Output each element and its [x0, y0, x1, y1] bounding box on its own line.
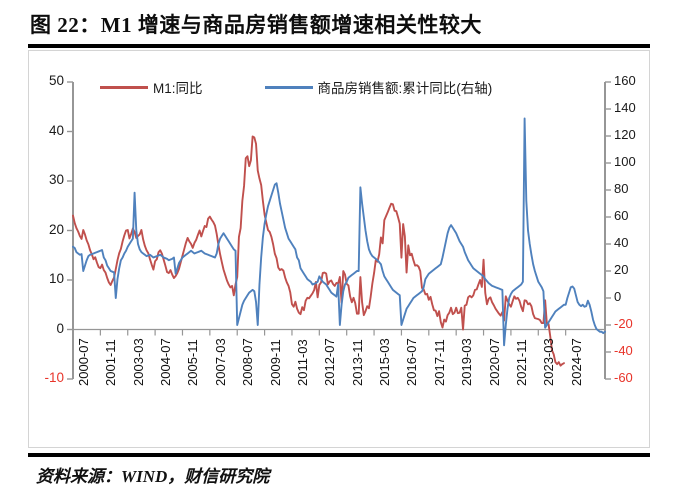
left-axis-tick-label: 50 — [28, 74, 64, 88]
x-axis-tick-label: 2007-03 — [214, 338, 227, 386]
x-axis-tick-label: 2000-07 — [77, 338, 90, 386]
left-axis-tick-label: 40 — [28, 124, 64, 138]
source-note: 资料来源：WIND，财信研究院 — [36, 462, 636, 492]
x-axis-tick-label: 2015-03 — [378, 338, 391, 386]
x-axis-tick-label: 2008-07 — [241, 338, 254, 386]
right-axis-tick-label: 120 — [614, 128, 636, 142]
chart-area — [28, 50, 650, 448]
right-axis-tick-label: 60 — [614, 209, 628, 223]
right-axis-tick-label: 80 — [614, 182, 628, 196]
x-axis-tick-label: 2017-11 — [433, 339, 446, 386]
right-axis-tick-label: 140 — [614, 101, 636, 115]
x-axis-tick-label: 2001-11 — [104, 339, 117, 386]
x-axis-tick-label: 2020-07 — [488, 338, 501, 386]
series-line-sales — [73, 118, 605, 345]
x-axis-tick-label: 2023-03 — [542, 338, 555, 386]
right-axis-tick-label: -60 — [614, 371, 633, 385]
page-title: 图 22：M1 增速与商品房销售额增速相关性较大 — [30, 8, 650, 42]
left-axis-tick-label: 10 — [28, 272, 64, 286]
x-axis-tick-label: 2016-07 — [405, 338, 418, 386]
x-axis-tick-label: 2003-03 — [132, 338, 145, 386]
left-axis-tick-label: 20 — [28, 223, 64, 237]
x-axis-tick-label: 2005-11 — [186, 339, 199, 386]
line-chart — [29, 51, 651, 449]
x-axis-tick-label: 2009-11 — [269, 339, 282, 386]
right-axis-tick-label: 100 — [614, 155, 636, 169]
left-axis-tick-label: 0 — [28, 322, 64, 336]
legend-label-m1: M1:同比 — [153, 77, 203, 97]
right-axis-tick-label: -20 — [614, 317, 633, 331]
title-divider-top — [28, 44, 650, 48]
series-line-m1 — [73, 136, 564, 365]
x-axis-tick-label: 2024-07 — [570, 338, 583, 386]
chart-legend: M1:同比 商品房销售额:累计同比(右轴) — [100, 76, 560, 98]
right-axis-tick-label: 160 — [614, 74, 636, 88]
right-axis-tick-label: 40 — [614, 236, 628, 250]
x-axis-tick-label: 2019-03 — [460, 338, 473, 386]
x-axis-tick-label: 2021-11 — [515, 339, 528, 386]
x-axis-tick-label: 2004-07 — [159, 338, 172, 386]
left-axis-tick-label: -10 — [28, 371, 64, 385]
figure-container: 图 22：M1 增速与商品房销售额增速相关性较大 M1:同比 商品房销售额:累计… — [0, 0, 678, 502]
right-axis-tick-label: 0 — [614, 290, 621, 304]
legend-swatch-m1 — [100, 86, 148, 89]
right-axis-tick-label: -40 — [614, 344, 633, 358]
x-axis-tick-label: 2012-07 — [323, 338, 336, 386]
plot-group — [67, 82, 611, 379]
legend-label-sales: 商品房销售额:累计同比(右轴) — [318, 77, 493, 97]
legend-item-sales: 商品房销售额:累计同比(右轴) — [265, 77, 493, 97]
source-divider — [28, 453, 650, 457]
left-axis-tick-label: 30 — [28, 173, 64, 187]
x-axis-tick-label: 2013-11 — [351, 339, 364, 386]
right-axis-tick-label: 20 — [614, 263, 628, 277]
x-axis-tick-label: 2011-03 — [296, 339, 309, 386]
legend-item-m1: M1:同比 — [100, 77, 203, 97]
legend-swatch-sales — [265, 86, 313, 89]
